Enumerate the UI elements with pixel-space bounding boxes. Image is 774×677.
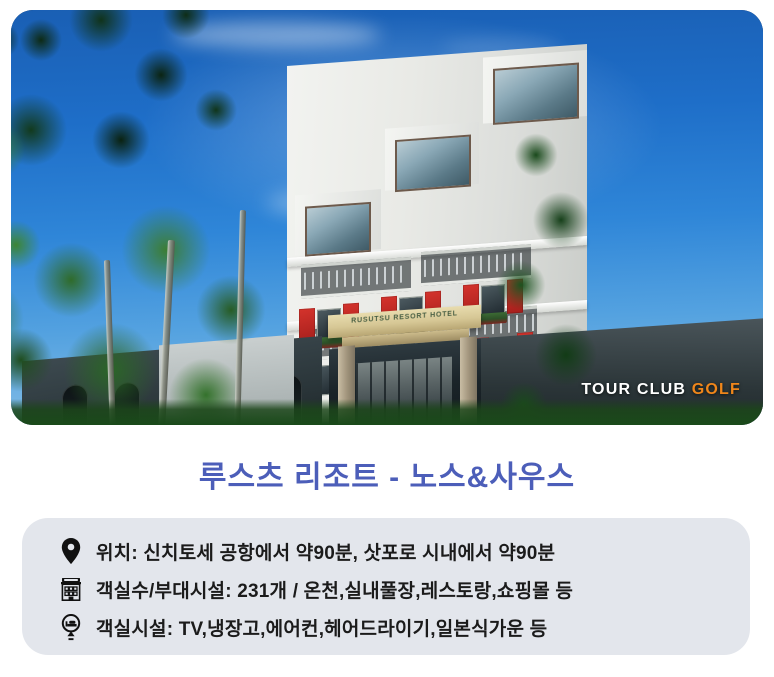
info-row-location: 위치: 신치토세 공항에서 약90분, 삿포로 시내에서 약90분 [22,532,750,570]
room-amenity-bed-pin-icon [56,612,86,642]
hotel-photo: RUSUTSU RESORT HOTEL TOUR CLUB GOLF [11,10,763,425]
page-title: 루스츠 리조트 - 노스&사우스 [0,452,774,496]
info-text-location: 위치: 신치토세 공항에서 약90분, 삿포로 시내에서 약90분 [96,538,555,565]
watermark-suffix: GOLF [692,381,741,398]
hotel-details-panel: 위치: 신치토세 공항에서 약90분, 삿포로 시내에서 약90분 [22,518,750,655]
tree-center-conifer [466,125,626,425]
cloud [171,22,381,48]
gable-window [493,63,579,125]
hotel-info-card: RUSUTSU RESORT HOTEL TOUR CLUB GOLF 루스 [0,0,774,677]
info-row-rooms-facilities: 객실수/부대시설: 231개 / 온천,실내풀장,레스토랑,쇼핑몰 등 [22,570,750,608]
info-text-rooms-facilities: 객실수/부대시설: 231개 / 온천,실내풀장,레스토랑,쇼핑몰 등 [96,576,573,603]
gable-window [395,134,471,192]
map-pin-icon [56,536,86,566]
foreground-grass [11,399,763,425]
gable-window [305,202,371,257]
info-row-room-amenities: 객실시설: TV,냉장고,에어컨,헤어드라이기,일본식가운 등 [22,608,750,646]
watermark-brand: TOUR CLUB [581,381,686,398]
info-text-room-amenities: 객실시설: TV,냉장고,에어컨,헤어드라이기,일본식가운 등 [96,614,547,641]
hotel-building-icon [56,574,86,604]
watermark: TOUR CLUB GOLF [581,381,741,399]
